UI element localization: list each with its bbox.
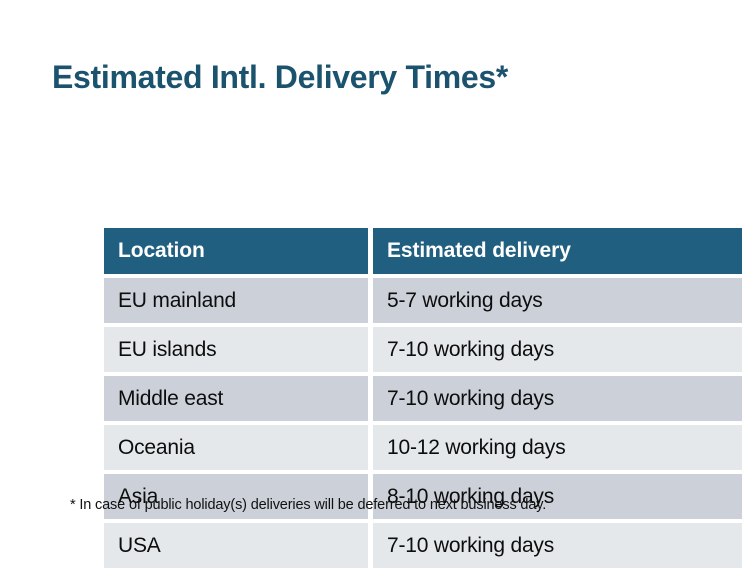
cell-location: Middle east: [104, 376, 368, 421]
cell-location: Oceania: [104, 425, 368, 470]
cell-location: USA: [104, 523, 368, 568]
delivery-times-card: Estimated Intl. Delivery Times* Location…: [0, 0, 745, 536]
column-header-location: Location: [104, 228, 368, 274]
table-row: Middle east 7-10 working days: [104, 376, 742, 421]
table-row: EU mainland 5-7 working days: [104, 278, 742, 323]
cell-location: EU mainland: [104, 278, 368, 323]
column-header-delivery: Estimated delivery: [373, 228, 742, 274]
delivery-times-table: Location Estimated delivery EU mainland …: [99, 224, 745, 572]
page-title: Estimated Intl. Delivery Times*: [52, 55, 508, 99]
table-row: USA 7-10 working days: [104, 523, 742, 568]
table-row: EU islands 7-10 working days: [104, 327, 742, 372]
cell-delivery: 7-10 working days: [373, 327, 742, 372]
cell-location: EU islands: [104, 327, 368, 372]
table-header-row: Location Estimated delivery: [104, 228, 742, 274]
cell-delivery: 7-10 working days: [373, 523, 742, 568]
cell-delivery: 7-10 working days: [373, 376, 742, 421]
cell-delivery: 5-7 working days: [373, 278, 742, 323]
table-body: EU mainland 5-7 working days EU islands …: [104, 278, 742, 568]
cell-delivery: 10-12 working days: [373, 425, 742, 470]
footnote-text: * In case of public holiday(s) deliverie…: [70, 495, 546, 515]
table-header: Location Estimated delivery: [104, 228, 742, 274]
table-row: Oceania 10-12 working days: [104, 425, 742, 470]
